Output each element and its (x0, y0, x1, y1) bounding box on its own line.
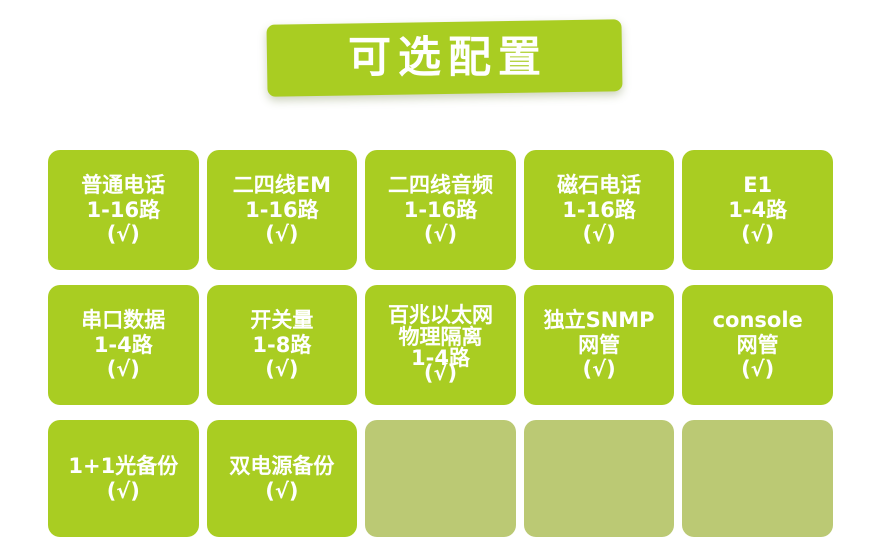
option-card-check: (√) (265, 357, 298, 382)
option-card-name: 独立SNMP (544, 308, 655, 333)
option-card-ports: 1-4路 (94, 333, 153, 358)
option-card-name: 磁石电话 (557, 173, 641, 198)
option-card-check: (√) (424, 363, 457, 384)
grid-row: 普通电话1-16路(√)二四线EM1-16路(√)二四线音频1-16路(√)磁石… (48, 150, 833, 270)
option-card-ports: 1-16路 (245, 198, 319, 223)
option-card[interactable]: 二四线EM1-16路(√) (207, 150, 358, 270)
option-card-check: (√) (582, 222, 615, 247)
option-card[interactable]: 串口数据1-4路(√) (48, 285, 199, 405)
option-card[interactable]: 二四线音频1-16路(√) (365, 150, 516, 270)
option-card-name: 1+1光备份 (68, 454, 178, 479)
option-card-name: 串口数据 (81, 308, 165, 333)
option-card-check: (√) (107, 357, 140, 382)
option-card-check: (√) (265, 222, 298, 247)
option-card-ports: 1-16路 (87, 198, 161, 223)
option-card-name: 双电源备份 (229, 454, 334, 479)
option-card-check: (√) (107, 222, 140, 247)
option-card-name: 普通电话 (81, 173, 165, 198)
optional-configuration-grid: 普通电话1-16路(√)二四线EM1-16路(√)二四线音频1-16路(√)磁石… (48, 150, 833, 537)
option-card-check: (√) (582, 357, 615, 382)
option-card-check: (√) (265, 479, 298, 504)
option-card-ports: 1-4路 (728, 198, 787, 223)
option-card-check: (√) (741, 357, 774, 382)
option-card-name: E1 (743, 173, 772, 198)
option-card-check: (√) (424, 222, 457, 247)
option-card-ports: 1-16路 (404, 198, 478, 223)
option-card-ports: 1-16路 (562, 198, 636, 223)
grid-row: 串口数据1-4路(√)开关量1-8路(√)百兆以太网物理隔离1-4路(√)独立S… (48, 285, 833, 405)
header-banner-area: 可选配置 (0, 0, 880, 135)
option-card-name: 百兆以太网 (388, 305, 493, 326)
option-card-check: (√) (107, 479, 140, 504)
option-card[interactable]: 独立SNMP网管(√) (524, 285, 675, 405)
option-card[interactable]: 1+1光备份(√) (48, 420, 199, 537)
option-card-name: console (713, 308, 803, 333)
option-card-ports: 1-8路 (252, 333, 311, 358)
option-card[interactable]: 普通电话1-16路(√) (48, 150, 199, 270)
option-card[interactable]: 百兆以太网物理隔离1-4路(√) (365, 285, 516, 405)
grid-row: 1+1光备份(√)双电源备份(√) (48, 420, 833, 537)
option-card[interactable]: 磁石电话1-16路(√) (524, 150, 675, 270)
option-card-empty (524, 420, 675, 537)
page-title: 可选配置 (341, 37, 548, 80)
option-card-name: 二四线EM (233, 173, 331, 198)
option-card-ports: 网管 (737, 333, 779, 358)
option-card-name: 二四线音频 (388, 173, 493, 198)
option-card-name-line2: 物理隔离 (398, 327, 482, 348)
option-card-name: 开关量 (250, 308, 313, 333)
header-banner: 可选配置 (266, 19, 622, 97)
option-card[interactable]: 双电源备份(√) (207, 420, 358, 537)
option-card-empty (682, 420, 833, 537)
option-card[interactable]: E11-4路(√) (682, 150, 833, 270)
option-card-ports: 网管 (578, 333, 620, 358)
option-card[interactable]: 开关量1-8路(√) (207, 285, 358, 405)
option-card-empty (365, 420, 516, 537)
option-card-check: (√) (741, 222, 774, 247)
option-card[interactable]: console网管(√) (682, 285, 833, 405)
